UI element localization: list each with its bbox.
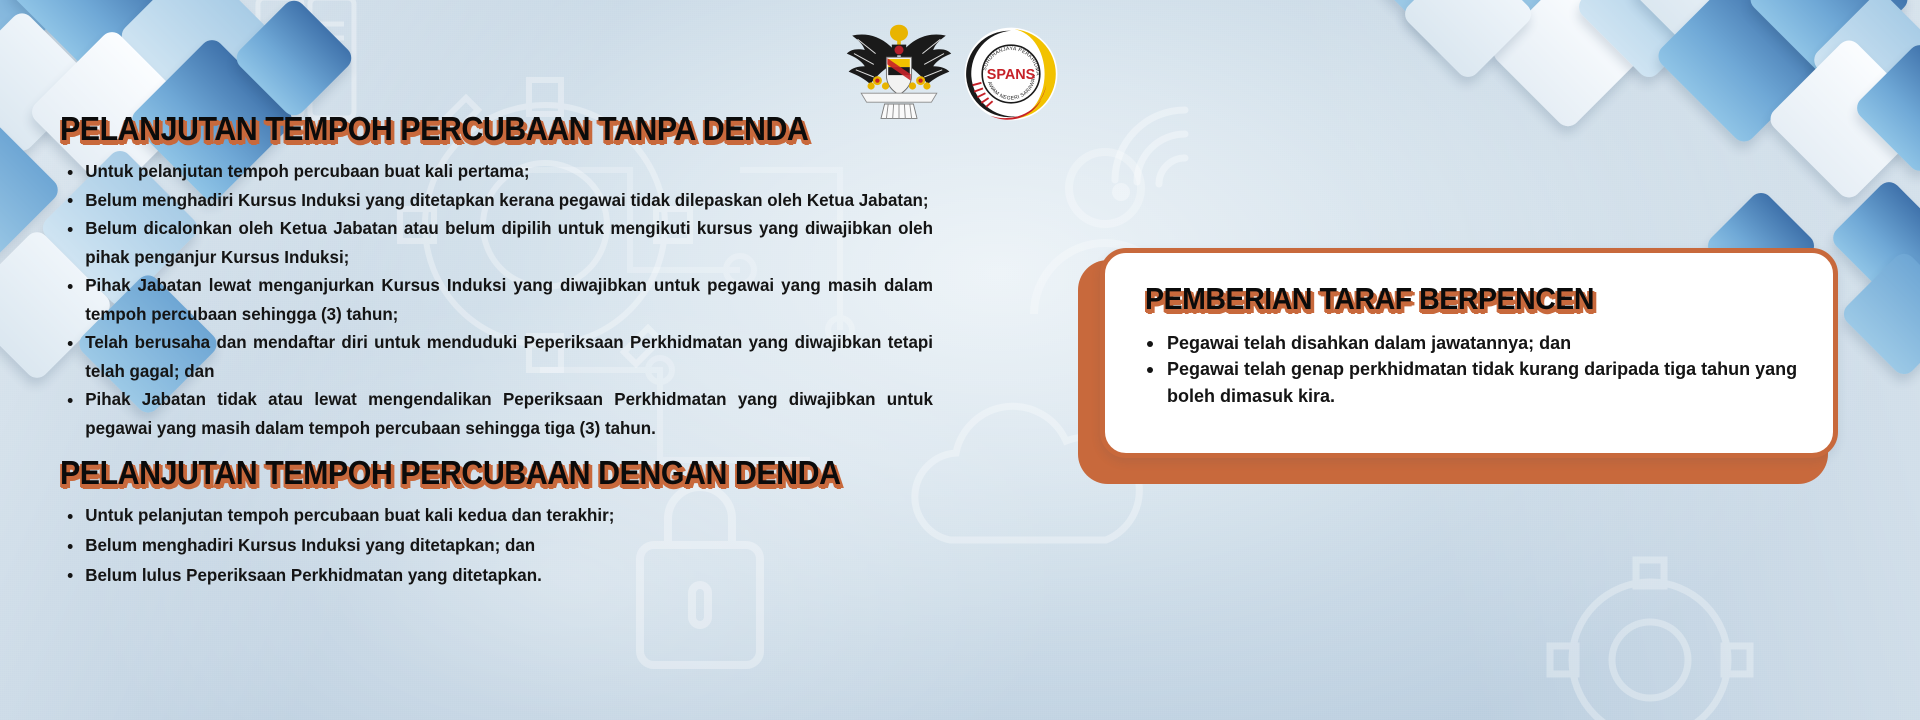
bullet-list-dengan-denda: Untuk pelanjutan tempoh percubaan buat k…	[60, 501, 960, 590]
card-heading: PEMBERIAN TARAF BERPENCEN	[1145, 283, 1778, 314]
list-item: Belum menghadiri Kursus Induksi yang dit…	[60, 186, 933, 215]
list-item: Pihak Jabatan lewat menganjurkan Kursus …	[60, 271, 933, 328]
list-item: Belum lulus Peperiksaan Perkhidmatan yan…	[60, 561, 933, 591]
card-body: PEMBERIAN TARAF BERPENCEN Pegawai telah …	[1100, 248, 1838, 458]
section-heading-tanpa-denda: PELANJUTAN TEMPOH PERCUBAAN TANPA DENDA	[60, 112, 888, 145]
spans-logo: SURUHANJAYA PERKHIDMATAN AWAM NEGERI SAR…	[963, 26, 1059, 122]
left-content-column: PELANJUTAN TEMPOH PERCUBAAN TANPA DENDA …	[60, 112, 960, 590]
list-item: Belum menghadiri Kursus Induksi yang dit…	[60, 531, 933, 561]
pemberian-taraf-berpencen-card: PEMBERIAN TARAF BERPENCEN Pegawai telah …	[1078, 248, 1838, 484]
section-heading-dengan-denda: PELANJUTAN TEMPOH PERCUBAAN DENGAN DENDA	[60, 456, 888, 489]
svg-text:SPANS: SPANS	[987, 67, 1036, 83]
slide-canvas: SURUHANJAYA PERKHIDMATAN AWAM NEGERI SAR…	[0, 0, 1920, 720]
bullet-list-berpencen: Pegawai telah disahkan dalam jawatannya;…	[1141, 330, 1801, 409]
list-item: Telah berusaha dan mendaftar diri untuk …	[60, 328, 933, 385]
list-item: Belum dicalonkan oleh Ketua Jabatan atau…	[60, 214, 933, 271]
list-item: Pegawai telah disahkan dalam jawatannya;…	[1141, 330, 1801, 356]
list-item: Pegawai telah genap perkhidmatan tidak k…	[1141, 356, 1801, 409]
logo-group: SURUHANJAYA PERKHIDMATAN AWAM NEGERI SAR…	[845, 8, 1085, 126]
sarawak-state-crest	[845, 14, 953, 122]
bullet-list-tanpa-denda: Untuk pelanjutan tempoh percubaan buat k…	[60, 157, 960, 442]
list-item: Pihak Jabatan tidak atau lewat mengendal…	[60, 385, 933, 442]
list-item: Untuk pelanjutan tempoh percubaan buat k…	[60, 157, 933, 186]
list-item: Untuk pelanjutan tempoh percubaan buat k…	[60, 501, 933, 531]
